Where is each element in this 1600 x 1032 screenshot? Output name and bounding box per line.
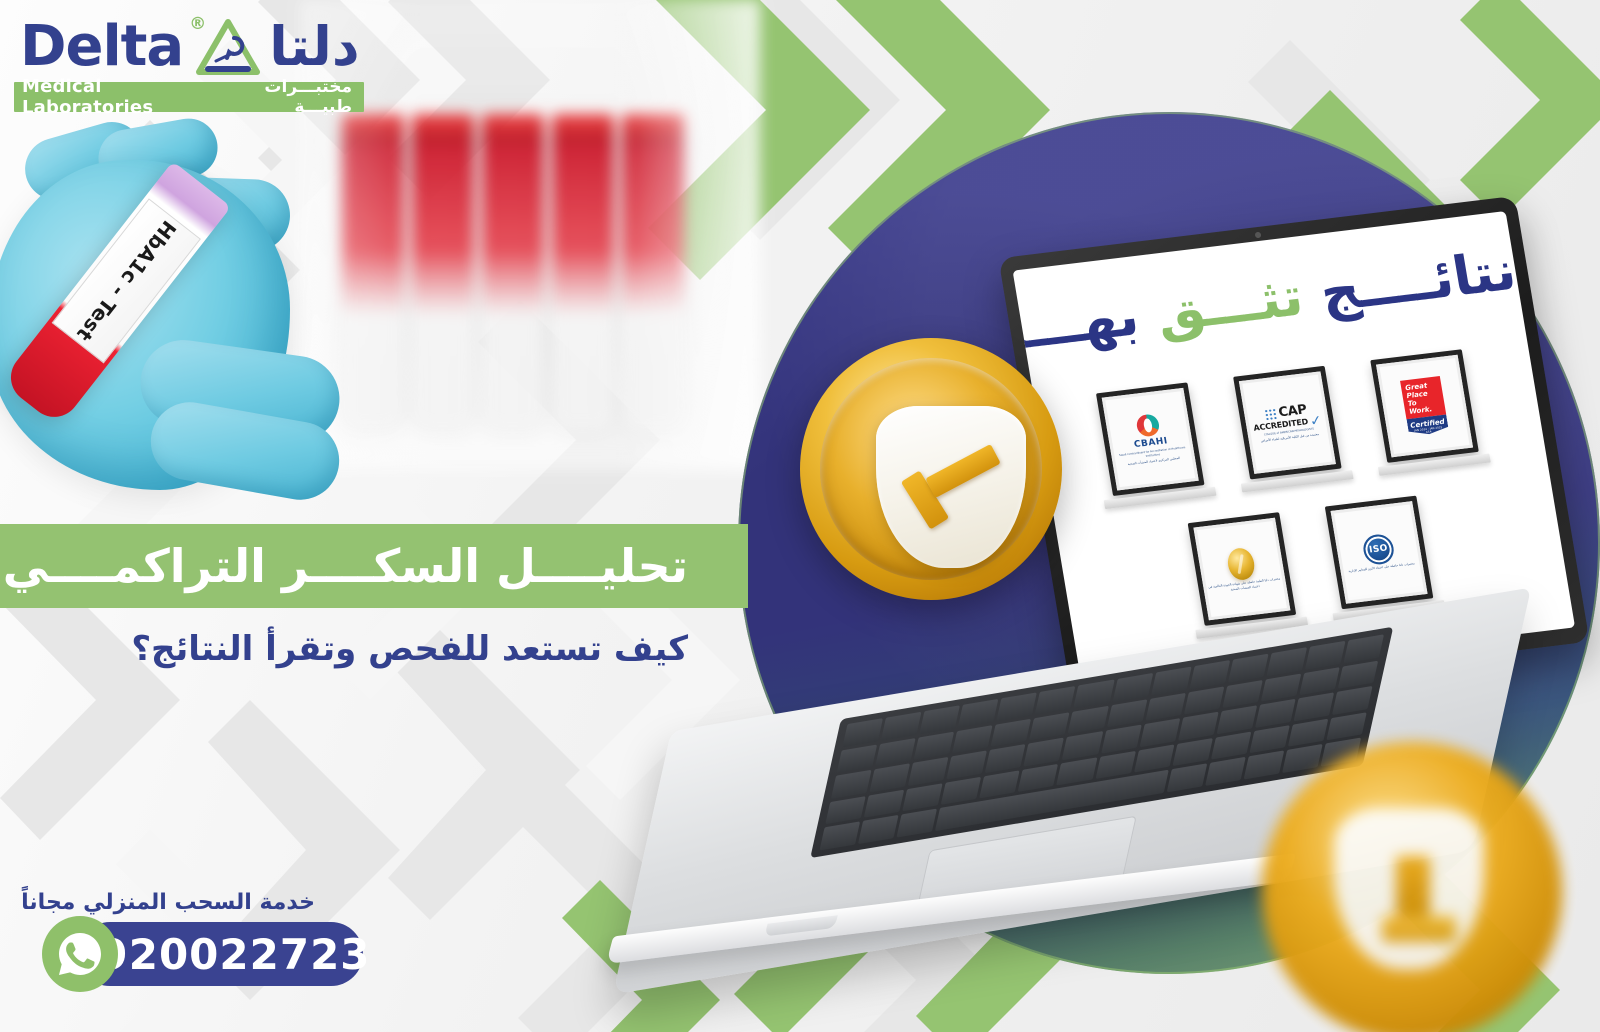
home-service-note: خدمة السحب المنزلي مجاناً	[21, 890, 315, 915]
iso-name: ISO	[1368, 543, 1388, 555]
brand-tagline-bar: Medical Laboratories مختبـــرات طبيـــة	[14, 82, 364, 112]
gptw-banner: Great Place To Work.	[1400, 376, 1446, 419]
subheadline-row: كيف تستعد للفحص وتقرأ النتائج؟	[0, 616, 748, 682]
certificate-cap: CAP ACCREDITED ✓ COLLEGE of AMERICAN PAT…	[1233, 365, 1348, 491]
screen-headline-part3: بهـــا	[1013, 284, 1144, 362]
brand-logo: Delta ® دلتا Medical Laboratories مختبــ…	[14, 14, 390, 116]
iso-seal-icon: ISO	[1361, 533, 1396, 566]
webcam-icon	[1255, 232, 1262, 239]
brand-name-arabic: دلتا	[269, 18, 359, 76]
laptop-lid-notch	[764, 915, 838, 936]
contact-block: خدمة السحب المنزلي مجاناً 920022723	[30, 890, 450, 1000]
gold-award-coin-badge	[1262, 742, 1562, 1032]
whatsapp-icon[interactable]	[42, 916, 118, 992]
registered-mark: ®	[189, 14, 206, 34]
shield-icon	[1334, 808, 1484, 970]
shield-icon	[876, 406, 1026, 568]
headline-band: تحليــــل السكــــر التراكمــــي	[0, 524, 748, 608]
page-title: تحليــــل السكــــر التراكمــــي	[3, 543, 688, 589]
screen-headline-part1: نتائــــج	[1316, 239, 1521, 325]
brand-tagline-en: Medical Laboratories	[22, 76, 217, 118]
certificate-cbahi: CBAHI Saudi Central Board for Accreditat…	[1096, 382, 1211, 508]
certificate-great-place-to-work: Great Place To Work. Certified JAN 2024 …	[1370, 349, 1485, 475]
certificate-gold-medal: مختبرات دلتا الطبية حاصلة على شهادة الجو…	[1188, 512, 1303, 638]
certificate-iso: ISO مختبرات دلتا حاصلة على اعتماد الآيزو…	[1325, 495, 1440, 621]
gold-shield-check-badge	[800, 338, 1062, 600]
microscope-triangle-icon: ®	[193, 16, 263, 78]
brand-name-latin: Delta	[20, 18, 183, 76]
gloved-hand-with-specimen: HbA1c - Test	[0, 120, 490, 540]
check-icon: ✓	[1309, 417, 1322, 426]
gold-medal-icon	[1225, 546, 1256, 581]
screen-headline-part2: تثـــق	[1152, 264, 1308, 344]
brand-tagline-ar: مختبـــرات طبيـــة	[217, 77, 352, 117]
screen-headline: نتائــــج تثـــق بهـــا	[1017, 239, 1520, 361]
phone-pill[interactable]: 920022723	[78, 922, 363, 986]
cap-emblem-icon	[1264, 408, 1278, 421]
page-subtitle: كيف تستعد للفحص وتقرأ النتائج؟	[131, 632, 688, 666]
advertisement-canvas: نتائــــج تثـــق بهـــا CBAHI Saudi Cent…	[0, 0, 1600, 1032]
cbahi-logo-icon	[1135, 413, 1160, 437]
